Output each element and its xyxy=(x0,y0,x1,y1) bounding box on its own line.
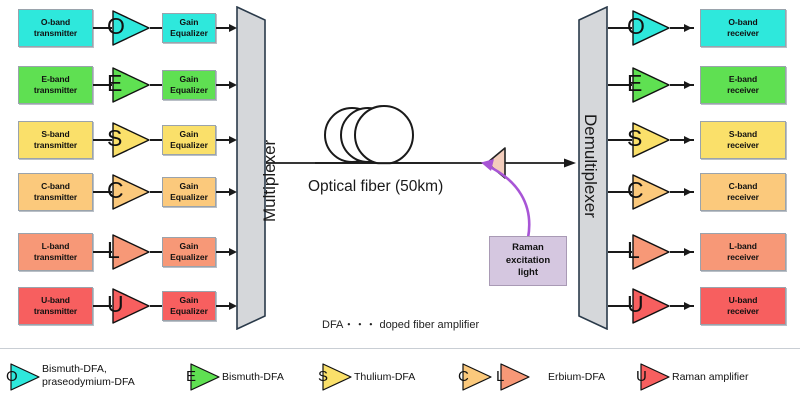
legend-triangle-u: U xyxy=(640,363,670,391)
receiver-box-c[interactable]: C-bandreceiver xyxy=(700,173,786,211)
arrow-into-rx-u xyxy=(684,302,692,310)
legend: OBismuth-DFA,praseodymium-DFAEBismuth-DF… xyxy=(0,348,800,408)
legend-triangle-s: S xyxy=(322,363,352,391)
amplifier-letter: S xyxy=(627,127,642,150)
arrow-into-rx-l xyxy=(684,248,692,256)
legend-label-1: Bismuth-DFA xyxy=(222,371,284,384)
legend-triangle-c: C xyxy=(462,363,492,391)
legend-letter: O xyxy=(6,369,18,384)
amplifier-letter: C xyxy=(627,179,644,202)
receiver-amplifier-o[interactable]: O xyxy=(632,10,670,46)
receiver-amplifier-c[interactable]: C xyxy=(632,174,670,210)
receiver-box-u[interactable]: U-bandreceiver xyxy=(700,287,786,325)
amplifier-letter: L xyxy=(627,239,640,262)
legend-letter: C xyxy=(458,369,469,384)
legend-letter: E xyxy=(186,369,196,384)
amplifier-letter: U xyxy=(627,293,644,316)
amplifier-letter: O xyxy=(627,15,645,38)
receiver-box-s[interactable]: S-bandreceiver xyxy=(700,121,786,159)
diagram-canvas: O-bandtransmitterOGainEqualizerE-bandtra… xyxy=(0,0,800,407)
legend-triangle-e: E xyxy=(190,363,220,391)
dfa-note: DFA・・・ doped fiber amplifier xyxy=(322,316,479,332)
raman-excitation-box[interactable]: Ramanexcitationlight xyxy=(489,236,567,286)
receiver-amplifier-l[interactable]: L xyxy=(632,234,670,270)
receiver-amplifier-u[interactable]: U xyxy=(632,288,670,324)
receiver-amplifier-e[interactable]: E xyxy=(632,67,670,103)
optical-fiber-label: Optical fiber (50km) xyxy=(308,178,443,196)
legend-triangle-l: L xyxy=(500,363,530,391)
legend-letter: L xyxy=(496,369,504,384)
legend-label-2: Thulium-DFA xyxy=(354,371,415,384)
legend-letter: U xyxy=(636,369,647,384)
legend-letter: S xyxy=(318,369,328,384)
receiver-amplifier-s[interactable]: S xyxy=(632,122,670,158)
amplifier-letter: E xyxy=(627,72,642,95)
legend-label-3: Erbium-DFA xyxy=(548,371,605,384)
legend-label-0: Bismuth-DFA,praseodymium-DFA xyxy=(42,363,135,389)
arrow-into-rx-e xyxy=(684,81,692,89)
receiver-box-l[interactable]: L-bandreceiver xyxy=(700,233,786,271)
arrow-into-rx-c xyxy=(684,188,692,196)
legend-triangle-o: O xyxy=(10,363,40,391)
legend-label-4: Raman amplifier xyxy=(672,371,748,384)
arrow-into-rx-s xyxy=(684,136,692,144)
optical-fiber-span xyxy=(0,0,800,407)
receiver-box-e[interactable]: E-bandreceiver xyxy=(700,66,786,104)
arrow-into-rx-o xyxy=(684,24,692,32)
receiver-box-o[interactable]: O-bandreceiver xyxy=(700,9,786,47)
